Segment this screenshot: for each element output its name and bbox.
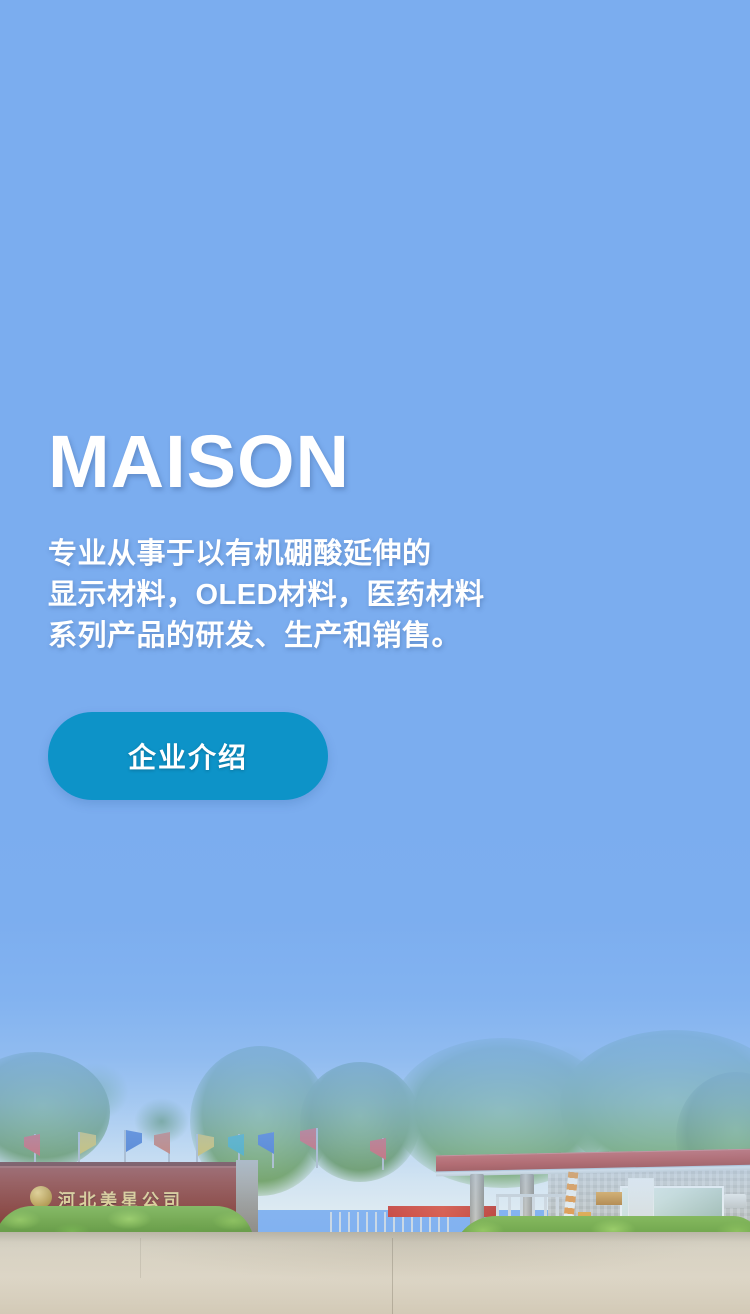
tagline-line-1: 专业从事于以有机硼酸延伸的 [48,534,485,575]
tagline-line-3: 系列产品的研发、生产和销售。 [48,616,485,657]
page-title: MAISON [48,425,350,499]
tagline: 专业从事于以有机硼酸延伸的 显示材料，OLED材料，医药材料 系列产品的研发、生… [48,534,485,657]
company-intro-button[interactable]: 企业介绍 [48,712,328,800]
tagline-line-2: 显示材料，OLED材料，医药材料 [48,575,485,616]
hero-content: MAISON 专业从事于以有机硼酸延伸的 显示材料，OLED材料，医药材料 系列… [0,0,750,1314]
hero-banner: 河北美星公司 MAISON CHEMICAL MAISON 专业从事于以有机 [0,0,750,1314]
